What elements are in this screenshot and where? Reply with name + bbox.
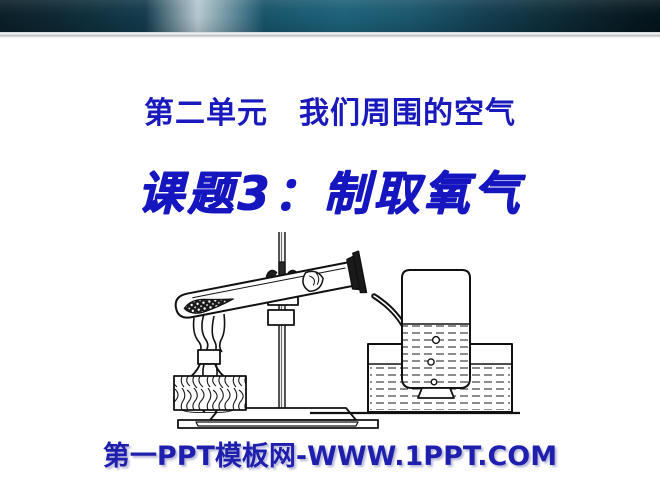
unit-heading: 第二单元 我们周围的空气 — [0, 88, 660, 132]
wooden-block — [174, 376, 246, 410]
page-title: 课题3：制取氧气 — [0, 157, 660, 223]
top-banner — [0, 0, 660, 32]
banner-divider-rule — [0, 32, 660, 38]
flame — [194, 314, 225, 354]
presentation-slide: 第二单元 我们周围的空气 课题3：制取氧气 — [0, 0, 660, 495]
footer-watermark: 第一PPT模板网-WWW.1PPT.COM — [0, 434, 660, 473]
apparatus-illustration — [160, 232, 520, 437]
banner-sheen-overlay — [0, 0, 660, 32]
collecting-bottle — [402, 270, 470, 398]
